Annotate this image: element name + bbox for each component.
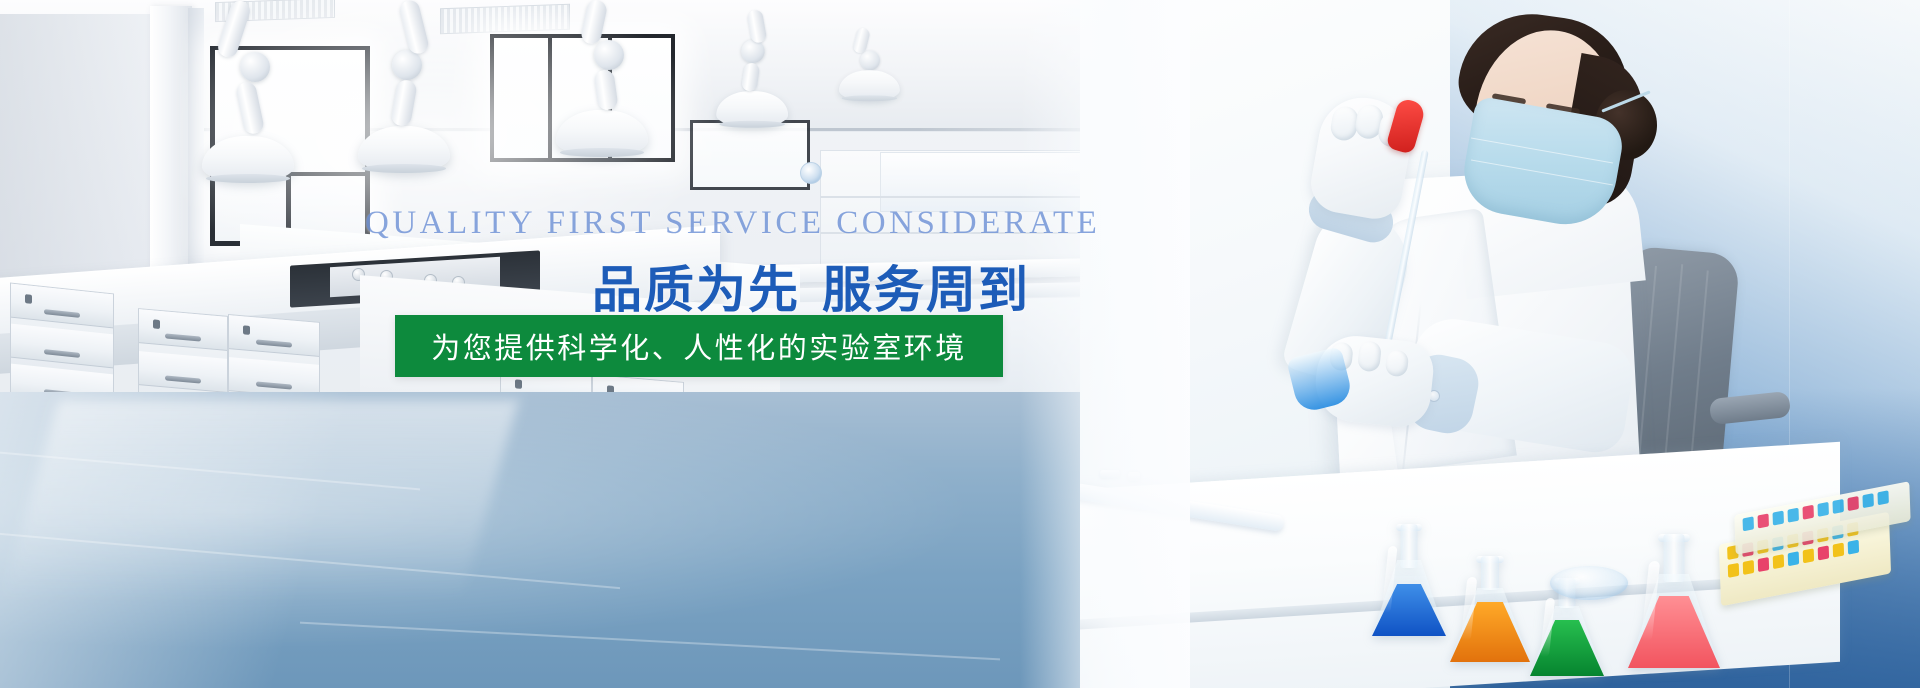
headline-phrase-2: 服务周到 — [822, 261, 1030, 319]
subtitle-text: 为您提供科学化、人性化的实验室环境 — [431, 325, 967, 367]
chinese-headline: 品质为先服务周到 — [592, 250, 1030, 322]
headline-phrase-1: 品质为先 — [592, 261, 800, 319]
english-tagline: QUALITY FIRST SERVICE CONSIDERATE — [365, 205, 1100, 242]
text-overlay: QUALITY FIRST SERVICE CONSIDERATE 品质为先服务… — [0, 0, 1920, 688]
subtitle-banner-box: 为您提供科学化、人性化的实验室环境 — [395, 315, 1003, 377]
lab-hero-banner: QUALITY FIRST SERVICE CONSIDERATE 品质为先服务… — [0, 0, 1920, 688]
